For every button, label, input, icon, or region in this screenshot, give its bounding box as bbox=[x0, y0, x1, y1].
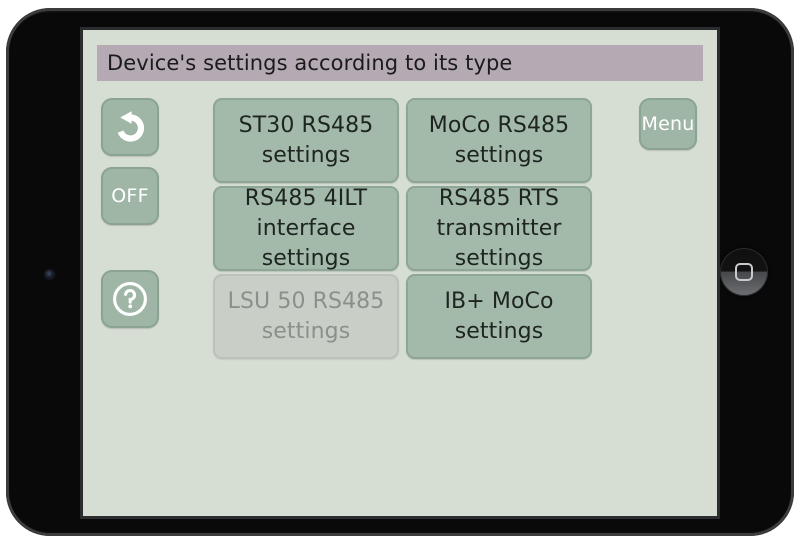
tile-row: ST30 RS485 settings MoCo RS485 settings bbox=[213, 98, 593, 183]
tile-label: IB+ MoCo settings bbox=[406, 287, 592, 347]
tile-label: ST30 RS485 settings bbox=[213, 111, 399, 171]
home-square-icon bbox=[735, 263, 753, 281]
tile-st30-rs485-settings[interactable]: ST30 RS485 settings bbox=[213, 98, 399, 183]
tablet-device-frame: Device's settings according to its type … bbox=[6, 8, 794, 536]
tablet-screen: Device's settings according to its type … bbox=[80, 27, 720, 519]
tile-lsu-50-rs485-settings: LSU 50 RS485 settings bbox=[213, 274, 399, 359]
settings-tile-grid: ST30 RS485 settings MoCo RS485 settings … bbox=[213, 98, 593, 359]
tile-rs485-rts-transmitter-settings[interactable]: RS485 RTS transmitter settings bbox=[406, 186, 592, 271]
tile-moco-rs485-settings[interactable]: MoCo RS485 settings bbox=[406, 98, 592, 183]
back-button[interactable] bbox=[101, 98, 159, 156]
tile-label: MoCo RS485 settings bbox=[406, 111, 592, 171]
tile-label: RS485 4ILT interface settings bbox=[213, 186, 399, 271]
camera-dot-icon bbox=[45, 270, 54, 279]
tile-rs485-4ilt-interface-settings[interactable]: RS485 4ILT interface settings bbox=[213, 186, 399, 271]
tile-ib-plus-moco-settings[interactable]: IB+ MoCo settings bbox=[406, 274, 592, 359]
home-button[interactable] bbox=[720, 248, 768, 296]
back-arrow-icon bbox=[112, 109, 148, 145]
page-title: Device's settings according to its type bbox=[107, 51, 512, 75]
tile-label: LSU 50 RS485 settings bbox=[213, 287, 399, 347]
screenshot-stage: Device's settings according to its type … bbox=[0, 0, 800, 542]
tile-row: LSU 50 RS485 settings IB+ MoCo settings bbox=[213, 274, 593, 359]
off-button[interactable]: OFF bbox=[101, 167, 159, 225]
off-button-label: OFF bbox=[111, 185, 148, 207]
left-control-rail: OFF bbox=[101, 98, 169, 328]
app-viewport: Device's settings according to its type … bbox=[83, 30, 717, 516]
menu-button-label: Menu bbox=[642, 113, 695, 135]
page-title-bar: Device's settings according to its type bbox=[97, 45, 703, 81]
menu-button[interactable]: Menu bbox=[639, 98, 697, 150]
tile-label: RS485 RTS transmitter settings bbox=[406, 186, 592, 271]
tile-row: RS485 4ILT interface settings RS485 RTS … bbox=[213, 186, 593, 271]
help-button[interactable] bbox=[101, 270, 159, 328]
question-mark-icon bbox=[111, 280, 149, 318]
